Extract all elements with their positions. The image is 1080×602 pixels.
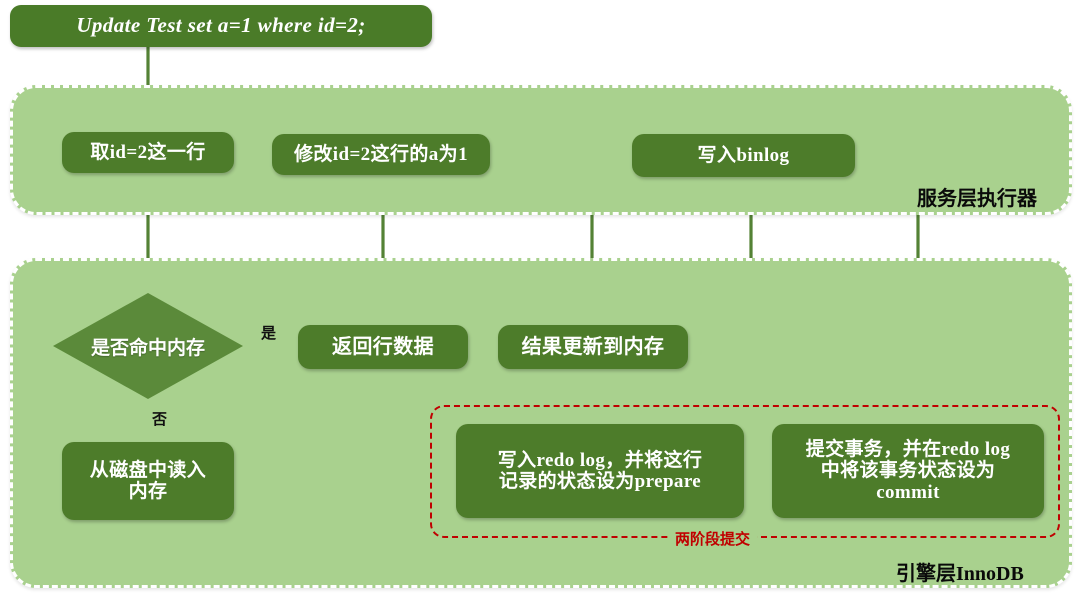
flowchart-canvas: 两阶段提交 Update Test set a=1 where id=2; 取i…: [0, 0, 1080, 602]
node-fetch-row: 取id=2这一行: [62, 132, 234, 173]
node-write-redo: 写入redo log，并将这行 记录的状态设为prepare: [456, 424, 744, 518]
edge-label-yes: 是: [261, 322, 276, 343]
node-modify-row: 修改id=2这行的a为1: [272, 134, 490, 175]
sql-statement-box: Update Test set a=1 where id=2;: [10, 5, 432, 47]
layer-label-service: 服务层执行器: [917, 182, 1037, 211]
layer-label-engine: 引擎层InnoDB: [896, 557, 1024, 586]
decision-memory-hit: 是否命中内存: [52, 292, 244, 400]
node-write-binlog: 写入binlog: [632, 134, 855, 177]
two-phase-commit-label: 两阶段提交: [668, 528, 757, 549]
node-update-memory: 结果更新到内存: [498, 325, 688, 369]
decision-label: 是否命中内存: [52, 292, 244, 400]
node-read-disk: 从磁盘中读入 内存: [62, 442, 234, 520]
edge-label-no: 否: [152, 408, 167, 429]
node-commit-txn: 提交事务，并在redo log 中将该事务状态设为 commit: [772, 424, 1044, 518]
node-return-row: 返回行数据: [298, 325, 468, 369]
